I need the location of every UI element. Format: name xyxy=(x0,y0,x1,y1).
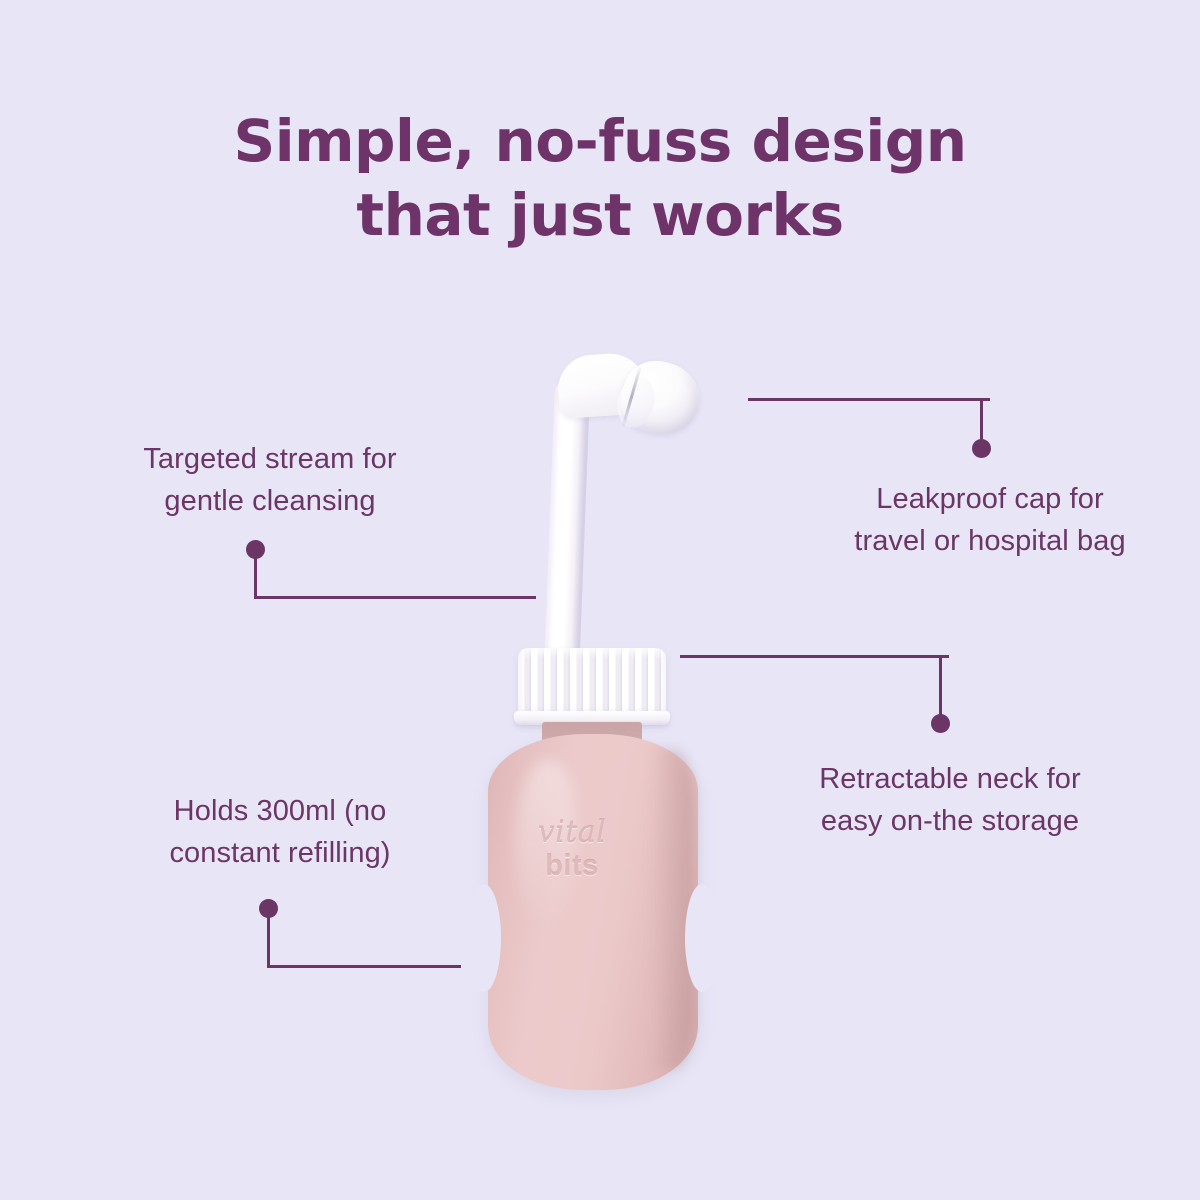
bottle-waist-right xyxy=(685,884,719,992)
bottle-body-group xyxy=(488,734,698,1090)
leader-segment-horizontal xyxy=(748,398,990,401)
callout-label-holds-300ml: Holds 300ml (no constant refilling) xyxy=(70,790,490,874)
leader-segment-horizontal xyxy=(267,965,461,968)
leader-segment-vertical xyxy=(939,655,942,719)
callout-retractable-neck-line-2: easy on-the storage xyxy=(760,800,1140,842)
leader-segment-horizontal xyxy=(680,655,949,658)
leader-segment-horizontal xyxy=(254,596,536,599)
leader-dot-leakproof-cap xyxy=(972,439,991,458)
bottle-highlight xyxy=(516,760,576,930)
callout-holds-300ml-line-2: constant refilling) xyxy=(70,832,490,874)
page-title-line-1: Simple, no-fuss design xyxy=(0,104,1200,178)
page-title-line-2: that just works xyxy=(0,178,1200,252)
infographic-canvas: Simple, no-fuss design that just works v… xyxy=(0,0,1200,1200)
leader-segment-vertical xyxy=(980,398,983,444)
callout-label-leakproof-cap: Leakproof cap for travel or hospital bag xyxy=(790,478,1190,562)
callout-targeted-stream-line-2: gentle cleansing xyxy=(40,480,500,522)
callout-retractable-neck-line-1: Retractable neck for xyxy=(760,758,1140,800)
callout-label-retractable-neck: Retractable neck for easy on-the storage xyxy=(760,758,1140,842)
callout-label-targeted-stream: Targeted stream for gentle cleansing xyxy=(40,438,500,522)
page-title: Simple, no-fuss design that just works xyxy=(0,104,1200,252)
callout-targeted-stream-line-1: Targeted stream for xyxy=(40,438,500,480)
leader-line-targeted-stream xyxy=(246,540,536,602)
callout-leakproof-cap-line-2: travel or hospital bag xyxy=(790,520,1190,562)
leader-line-retractable-neck xyxy=(680,655,956,737)
leader-line-holds-300ml xyxy=(259,899,469,971)
leader-line-leakproof-cap xyxy=(748,398,998,462)
callout-leakproof-cap-line-1: Leakproof cap for xyxy=(790,478,1190,520)
bottle-waist-left xyxy=(467,884,501,992)
callout-holds-300ml-line-1: Holds 300ml (no xyxy=(70,790,490,832)
leader-segment-vertical xyxy=(254,556,257,598)
leader-dot-retractable-neck xyxy=(931,714,950,733)
screw-collar xyxy=(518,648,666,720)
leader-segment-vertical xyxy=(267,915,270,967)
